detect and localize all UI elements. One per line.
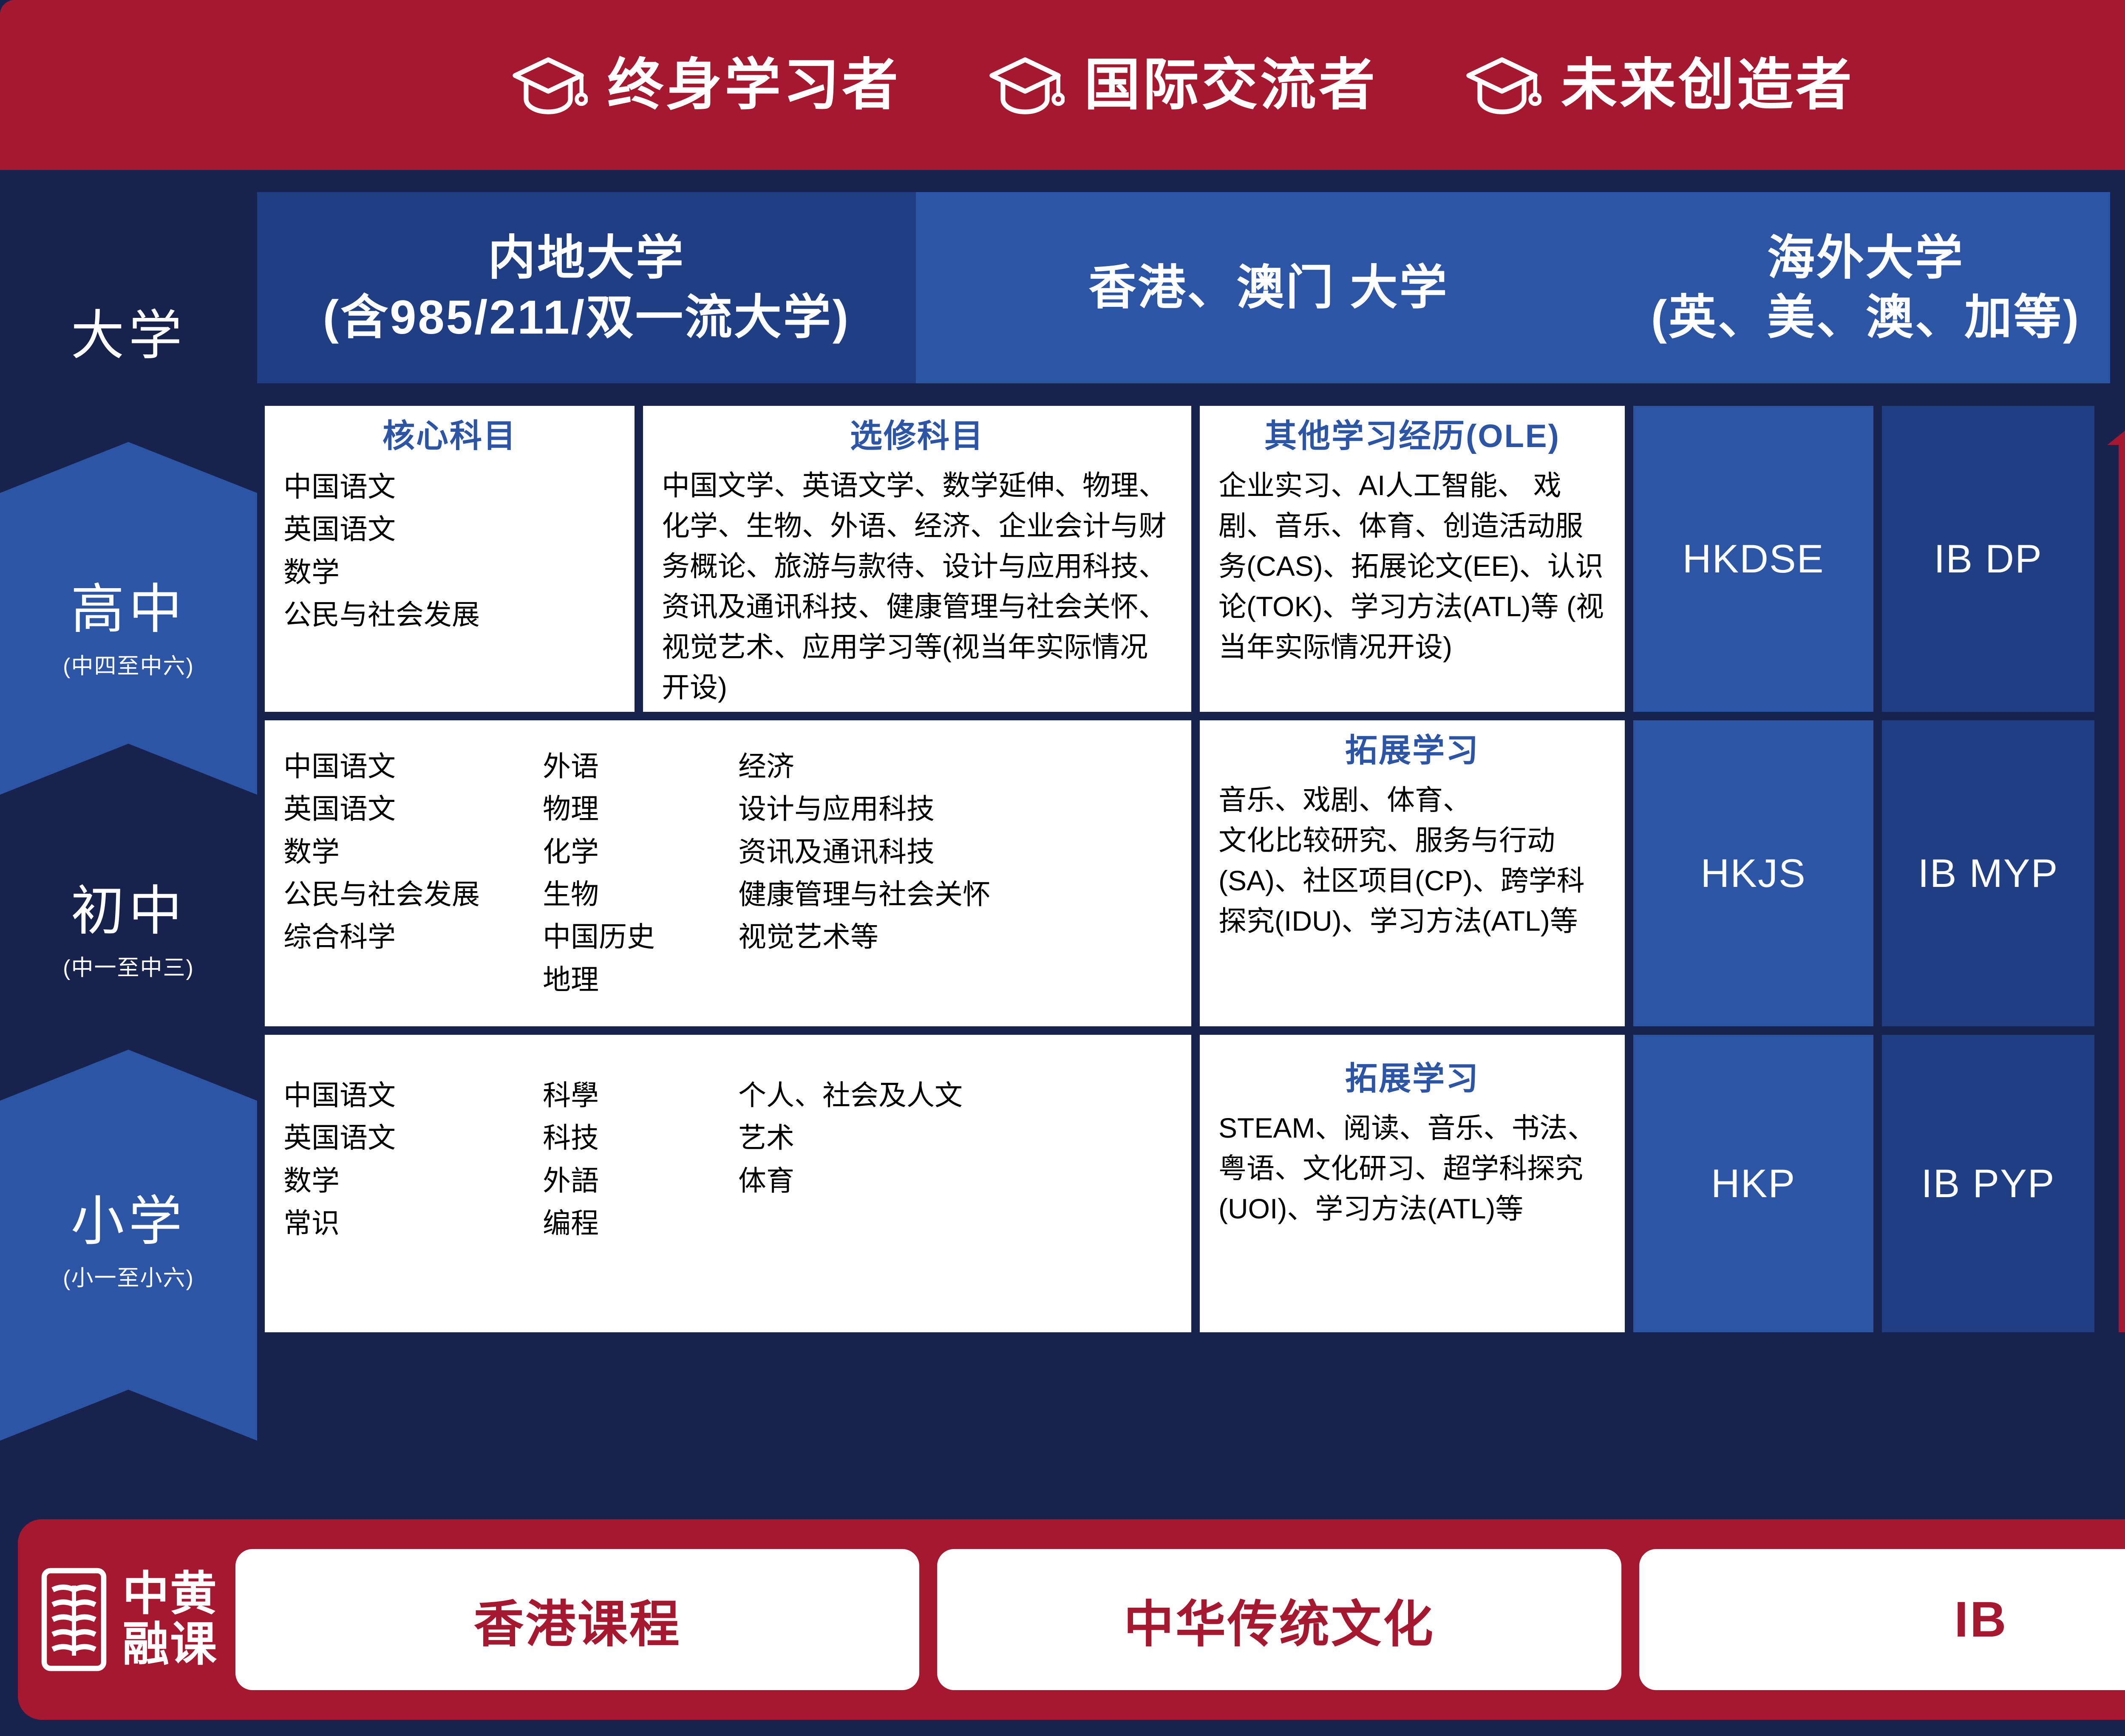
stage-title: 大学	[71, 309, 187, 362]
subject-columns: 中国语文 英国语文 数学 常识 科學 科技 外語 编程 个人、社会及人文 艺术 …	[283, 1074, 1173, 1244]
pill-chinese-traditional-culture[interactable]: 中华传统文化	[937, 1549, 1621, 1690]
senior-core-subjects-card: 核心科目 中国语文 英国语文 数学 公民与社会发展	[265, 406, 635, 712]
diagram-frame: 终身学习者 国际交流者 未来创造者	[0, 0, 2125, 1736]
subject-item: 中国语文	[283, 465, 616, 508]
subject-paragraph: STEAM、阅读、音乐、书法、粤语、文化研习、超学科探究(UOI)、学习方法(A…	[1218, 1108, 1606, 1229]
banner-label: 未来创造者	[1561, 57, 1854, 113]
badge-hkjs[interactable]: HKJS	[1633, 720, 1873, 1026]
graduation-cap-icon	[986, 53, 1065, 117]
subject-item: 英国语文	[283, 787, 504, 830]
university-header-mainland: 内地大学 (含985/211/双一流大学)	[257, 192, 916, 383]
subject-columns: 中国语文 英国语文 数学 公民与社会发展 综合科学 外语 物理 化学 生物 中国…	[283, 745, 1173, 1001]
brand-line-2: 融课	[122, 1620, 218, 1670]
stage-title: 高中	[71, 583, 187, 636]
subject-item: 外语	[543, 745, 708, 787]
subject-item: 综合科学	[283, 915, 504, 958]
subject-column-3: 经济 设计与应用科技 资讯及通讯科技 健康管理与社会关怀 视觉艺术等	[738, 745, 1070, 1001]
subject-item: 中国历史	[543, 915, 708, 958]
curriculum-grid: 内地大学 (含985/211/双一流大学) 香港、澳门 大学 海外大学 (英、美…	[257, 170, 2110, 1477]
subject-paragraph: 企业实习、AI人工智能、 戏剧、音乐、体育、创造活动服务(CAS)、拓展论文(E…	[1218, 465, 1606, 667]
junior-subjects-card: 中国语文 英国语文 数学 公民与社会发展 综合科学 外语 物理 化学 生物 中国…	[265, 720, 1191, 1026]
subject-item: 生物	[543, 873, 708, 915]
badge-ib-dp[interactable]: IB DP	[1882, 406, 2094, 712]
primary-subjects-card: 中国语文 英国语文 数学 常识 科學 科技 外語 编程 个人、社会及人文 艺术 …	[265, 1035, 1191, 1332]
brand-line-1: 中黄	[122, 1569, 218, 1620]
open-book-icon	[40, 1566, 108, 1673]
badge-hkdse[interactable]: HKDSE	[1633, 406, 1873, 712]
brand-text: 中黄 融课	[122, 1569, 218, 1670]
primary-extension-learning-card: 拓展学习 STEAM、阅读、音乐、书法、粤语、文化研习、超学科探究(UOI)、学…	[1200, 1035, 1625, 1332]
junior-extension-learning-card: 拓展学习 音乐、戏剧、体育、 文化比较研究、服务与行动(SA)、社区项目(CP)…	[1200, 720, 1625, 1026]
subject-column-3: 个人、社会及人文 艺术 体育	[738, 1074, 1070, 1244]
university-header-line1: 海外大学	[1767, 230, 1964, 286]
subject-item: 常识	[283, 1202, 504, 1244]
banner-item-international-communicator: 国际交流者	[986, 53, 1377, 117]
bottom-bar: 中黄 融课 香港课程 中华传统文化 IB	[18, 1519, 2125, 1720]
stage-subtitle: (中四至中六)	[63, 648, 194, 680]
banner-label: 终身学习者	[607, 57, 901, 113]
senior-elective-subjects-card: 选修科目 中国文学、英语文学、数学延伸、物理、化学、生物、外语、经济、企业会计与…	[643, 406, 1191, 712]
stage-rail: 大学 高中 (中四至中六) 初中 (中一至中三) 小学 (小一至小六)	[0, 170, 257, 1477]
subject-item: 健康管理与社会关怀	[738, 873, 1070, 915]
banner-item-lifelong-learner: 终身学习者	[509, 53, 901, 117]
subject-item: 英国语文	[283, 508, 616, 550]
graduation-cap-icon	[1462, 53, 1541, 117]
subject-item: 体育	[738, 1159, 1070, 1202]
subject-item: 化学	[543, 830, 708, 873]
pill-hong-kong-curriculum[interactable]: 香港课程	[235, 1549, 919, 1690]
pill-ib[interactable]: IB	[1639, 1549, 2125, 1690]
subject-list: 中国语文 英国语文 数学 公民与社会发展	[283, 465, 616, 636]
stage-title: 小学	[71, 1195, 187, 1248]
university-header-line2: (含985/211/双一流大学)	[323, 290, 850, 345]
card-title: 拓展学习	[1218, 735, 1606, 767]
subject-item: 数学	[283, 830, 504, 873]
subject-item: 视觉艺术等	[738, 915, 1070, 958]
subject-item: 公民与社会发展	[283, 593, 616, 636]
subject-item: 科學	[543, 1074, 708, 1116]
graduation-cap-icon	[509, 53, 588, 117]
subject-paragraph: 中国文学、英语文学、数学延伸、物理、化学、生物、外语、经济、企业会计与财务概论、…	[662, 465, 1173, 708]
university-header-line1: 内地大学	[488, 230, 685, 286]
subject-item: 物理	[543, 787, 708, 830]
stage-subtitle: (小一至小六)	[63, 1260, 194, 1292]
university-header-line1: 香港、澳门 大学	[1088, 260, 1448, 315]
subject-item: 中国语文	[283, 1074, 504, 1116]
badge-ib-pyp[interactable]: IB PYP	[1882, 1035, 2094, 1332]
subject-paragraph: 音乐、戏剧、体育、 文化比较研究、服务与行动(SA)、社区项目(CP)、跨学科探…	[1218, 780, 1606, 941]
card-title: 核心科目	[283, 420, 616, 453]
subject-column-2: 科學 科技 外語 编程	[543, 1074, 708, 1244]
subject-item: 编程	[543, 1202, 708, 1244]
subject-item: 数学	[283, 1159, 504, 1202]
stage-senior-secondary: 高中 (中四至中六)	[0, 535, 257, 727]
university-header-line2: (英、美、澳、加等)	[1651, 290, 2081, 345]
top-banner: 终身学习者 国际交流者 未来创造者	[0, 0, 2125, 170]
stage-university: 大学	[0, 246, 257, 425]
badge-hkp[interactable]: HKP	[1633, 1035, 1873, 1332]
subject-column-2: 外语 物理 化学 生物 中国历史 地理	[543, 745, 708, 1001]
stage-junior-secondary: 初中 (中一至中三)	[0, 837, 257, 1028]
card-title: 拓展学习	[1218, 1063, 1606, 1095]
subject-item: 中国语文	[283, 745, 504, 787]
subject-item: 数学	[283, 551, 616, 593]
card-title: 其他学习经历(OLE)	[1218, 420, 1606, 453]
subject-item: 资讯及通讯科技	[738, 830, 1070, 873]
subject-column-1: 中国语文 英国语文 数学 常识	[283, 1074, 504, 1244]
subject-column-1: 中国语文 英国语文 数学 公民与社会发展 综合科学	[283, 745, 504, 1001]
subject-item: 公民与社会发展	[283, 873, 504, 915]
arrow-career-planning: 中黄青少年生涯规划	[2119, 406, 2125, 1332]
subject-item: 艺术	[738, 1116, 1070, 1159]
subject-item: 设计与应用科技	[738, 787, 1070, 830]
senior-ole-card: 其他学习经历(OLE) 企业实习、AI人工智能、 戏剧、音乐、体育、创造活动服务…	[1200, 406, 1625, 712]
university-header-overseas: 海外大学 (英、美、澳、加等)	[1621, 192, 2110, 383]
subject-item: 地理	[543, 958, 708, 1001]
arrow-label: 中黄青少年生涯规划	[2119, 406, 2125, 1332]
university-header-hk-macau: 香港、澳门 大学	[916, 192, 1621, 383]
banner-label: 国际交流者	[1084, 57, 1377, 113]
subject-item: 英国语文	[283, 1116, 504, 1159]
banner-item-future-creator: 未来创造者	[1462, 53, 1854, 117]
brand-block: 中黄 融课	[40, 1566, 218, 1673]
badge-ib-myp[interactable]: IB MYP	[1882, 720, 2094, 1026]
subject-item: 外語	[543, 1159, 708, 1202]
stage-primary: 小学 (小一至小六)	[0, 1147, 257, 1339]
subject-item: 经济	[738, 745, 1070, 787]
subject-item: 科技	[543, 1116, 708, 1159]
stage-subtitle: (中一至中三)	[63, 950, 194, 982]
card-title: 选修科目	[662, 420, 1173, 453]
subject-item: 个人、社会及人文	[738, 1074, 1070, 1116]
stage-title: 初中	[71, 884, 187, 938]
